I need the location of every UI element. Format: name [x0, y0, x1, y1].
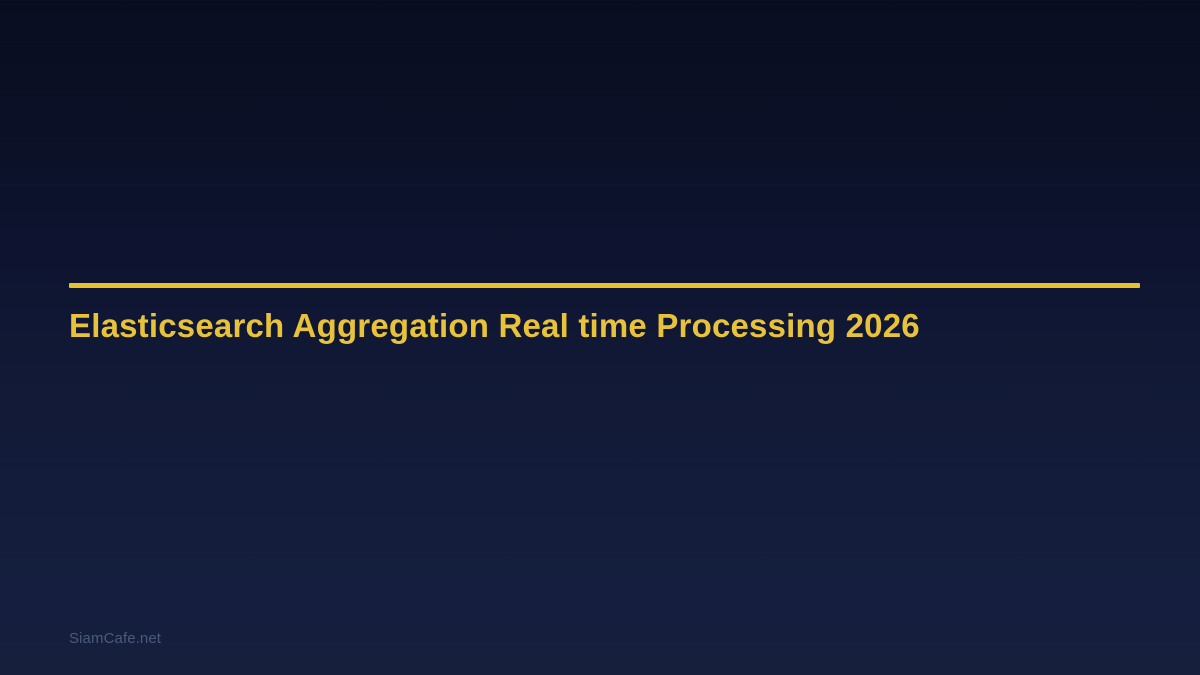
footer-watermark: SiamCafe.net — [69, 630, 161, 647]
slide-canvas: Elasticsearch Aggregation Real time Proc… — [0, 0, 1200, 675]
title-block: Elasticsearch Aggregation Real time Proc… — [69, 283, 1140, 346]
slide-title: Elasticsearch Aggregation Real time Proc… — [69, 288, 1140, 346]
